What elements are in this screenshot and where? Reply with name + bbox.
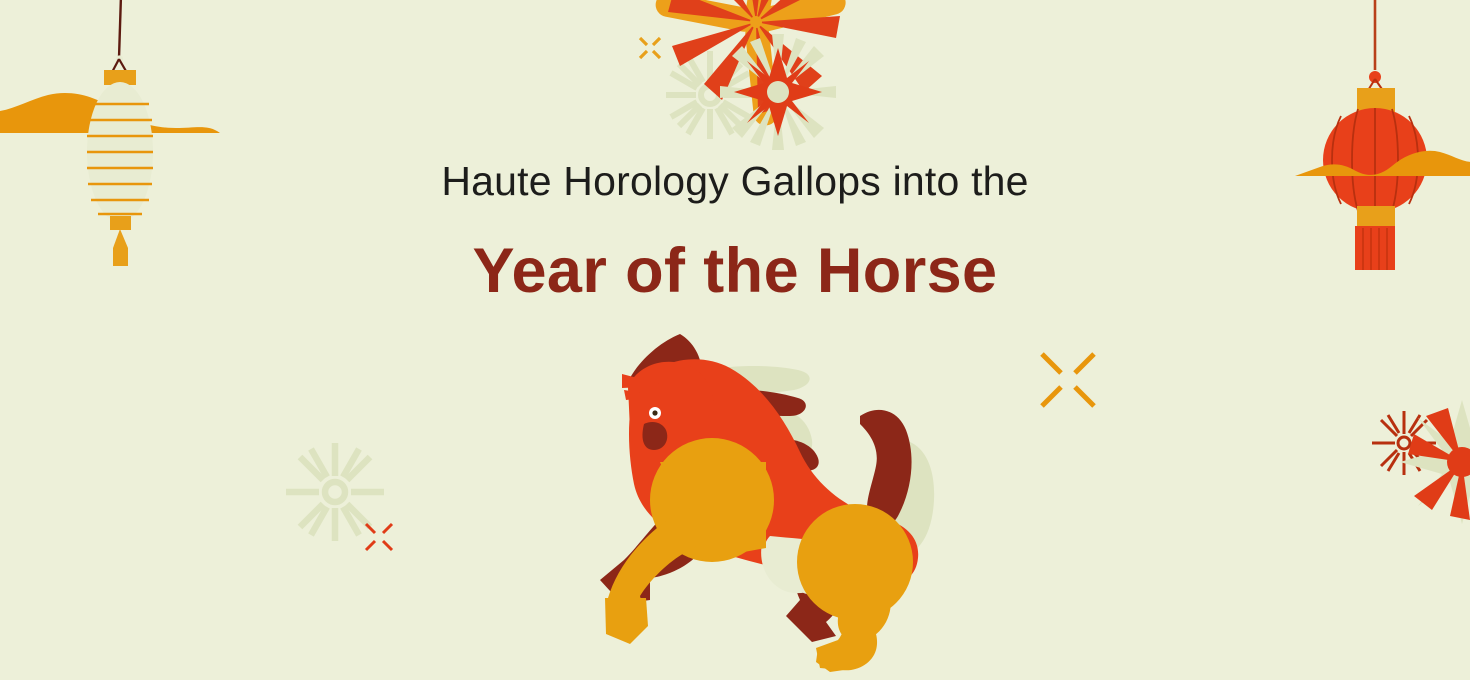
lantern-knot (1369, 71, 1381, 83)
lantern-top-cap (1357, 88, 1395, 114)
horse-ear-back (624, 390, 662, 400)
decorative-artwork (0, 0, 1470, 680)
horse-tail (860, 410, 912, 528)
horse-hind-hoof (816, 648, 858, 672)
firework-starburst-pale-top (666, 51, 754, 139)
horse-shoulder-block (660, 462, 766, 560)
firework-starburst-pale-left (286, 443, 384, 541)
horse-hind-leg-upper (838, 559, 891, 642)
horse-mane-streak-1 (672, 388, 806, 416)
horse-mane-streak-2 (768, 439, 819, 471)
galloping-horse (600, 334, 934, 672)
horse-front-leg (608, 504, 716, 642)
horse-hind-leg-lower (816, 594, 877, 670)
lantern-top-cap (104, 70, 136, 85)
headline-line-2: Year of the Horse (0, 228, 1470, 314)
sparkle-orange-mid (1042, 354, 1094, 406)
horse-belly-inner (761, 544, 846, 593)
new-year-banner: Haute Horology Gallops into the Year of … (0, 0, 1470, 680)
horse-shoulder (650, 438, 774, 562)
horse-hind-leg-back (786, 539, 847, 642)
horse-neck (628, 362, 714, 506)
headline-line-1: Haute Horology Gallops into the (0, 152, 1470, 210)
sparkle-red-left (366, 524, 392, 550)
horse-body (629, 359, 918, 587)
horse-haunch (797, 504, 913, 620)
horse-muzzle (642, 422, 667, 450)
firework-star-top (734, 48, 822, 136)
horse-head (628, 386, 700, 452)
firework-right-edge (1372, 400, 1470, 524)
horse-eye (649, 407, 661, 419)
sparkle-orange-top (640, 38, 660, 58)
firework-pinwheel-top (654, 0, 849, 127)
lantern-hanger (109, 59, 130, 78)
cloud-left (0, 93, 220, 133)
lantern-knot (116, 55, 123, 62)
horse-tail-glow (874, 439, 935, 556)
horse-front-hoof (605, 598, 648, 644)
firework-spoke-red (1372, 411, 1436, 475)
horse-forelock (630, 334, 702, 399)
horse-mane-accent-upper (660, 366, 810, 396)
horse-belly (764, 536, 892, 598)
firework-glow-top (720, 34, 836, 150)
lantern-cord (119, 0, 121, 58)
horse-pupil (652, 410, 657, 415)
horse-mane-accent-lower (742, 405, 812, 457)
lantern-hanger (1367, 79, 1384, 92)
horse-front-leg-back (600, 506, 706, 604)
firework-spiky-star (1400, 400, 1470, 524)
headline: Haute Horology Gallops into the Year of … (0, 152, 1470, 314)
horse-ear-front (622, 374, 668, 388)
